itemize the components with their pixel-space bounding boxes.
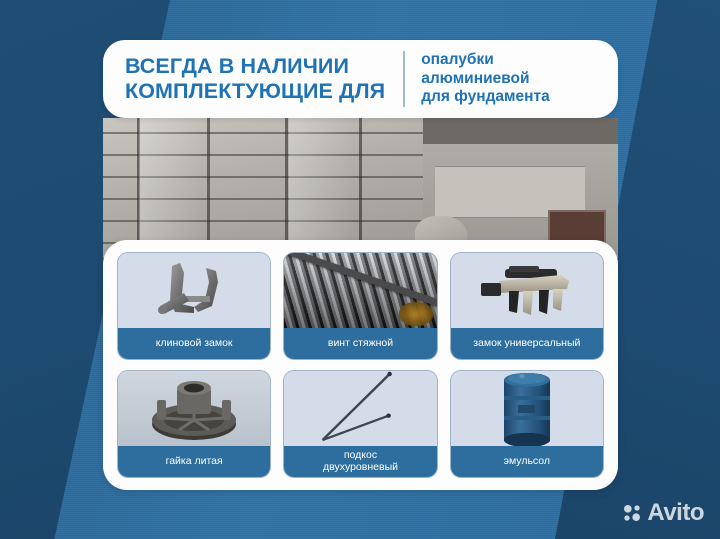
product-tile-universal-lock[interactable]: замок универсальный [450,252,604,360]
header-subtitle: опалубки алюминиевой для фундамента [421,51,550,108]
avito-dots-icon [622,503,642,523]
product-label-brace: подкос двухуровневый [284,446,436,477]
product-label-cast-nut: гайка литая [118,446,270,477]
page-title: ВСЕГДА В НАЛИЧИИ КОМПЛЕКТУЮЩИЕ ДЛЯ [125,54,385,104]
product-image-tie-rod [284,253,436,328]
product-image-universal-lock [451,253,603,328]
formwork-panels [103,118,433,258]
header-divider [403,51,405,107]
product-label-wedge-lock: клиновой замок [118,328,270,359]
universal-clamp-icon [475,261,579,321]
product-label-universal-lock: замок универсальный [451,328,603,359]
concrete-wall [423,118,618,258]
wedge-lock-icon [148,260,240,322]
hero-photo [103,118,618,258]
product-tile-emulsol[interactable]: эмульсол [450,370,604,478]
product-image-cast-nut [118,371,270,446]
listing-image: ВСЕГДА В НАЛИЧИИ КОМПЛЕКТУЮЩИЕ ДЛЯ опалу… [0,0,720,539]
product-tile-cast-nut[interactable]: гайка литая [117,370,271,478]
product-label-emulsol: эмульсол [451,446,603,477]
header-card: ВСЕГДА В НАЛИЧИИ КОМПЛЕКТУЮЩИЕ ДЛЯ опалу… [103,40,618,118]
avito-watermark: Avito [622,501,704,525]
product-image-wedge-lock [118,253,270,328]
product-image-emulsol [451,371,603,446]
product-tile-tie-rod[interactable]: винт стяжной [283,252,437,360]
products-grid: клиновой замок винт стяжной [117,252,604,478]
avito-wordmark: Avito [647,501,704,525]
cast-nut-icon [139,374,249,444]
product-image-brace [284,371,436,446]
product-label-tie-rod: винт стяжной [284,328,436,359]
products-card: клиновой замок винт стяжной [103,240,618,490]
brace-rods-icon [284,371,436,444]
product-tile-wedge-lock[interactable]: клиновой замок [117,252,271,360]
product-tile-brace[interactable]: подкос двухуровневый [283,370,437,478]
barrel-icon [496,371,558,446]
